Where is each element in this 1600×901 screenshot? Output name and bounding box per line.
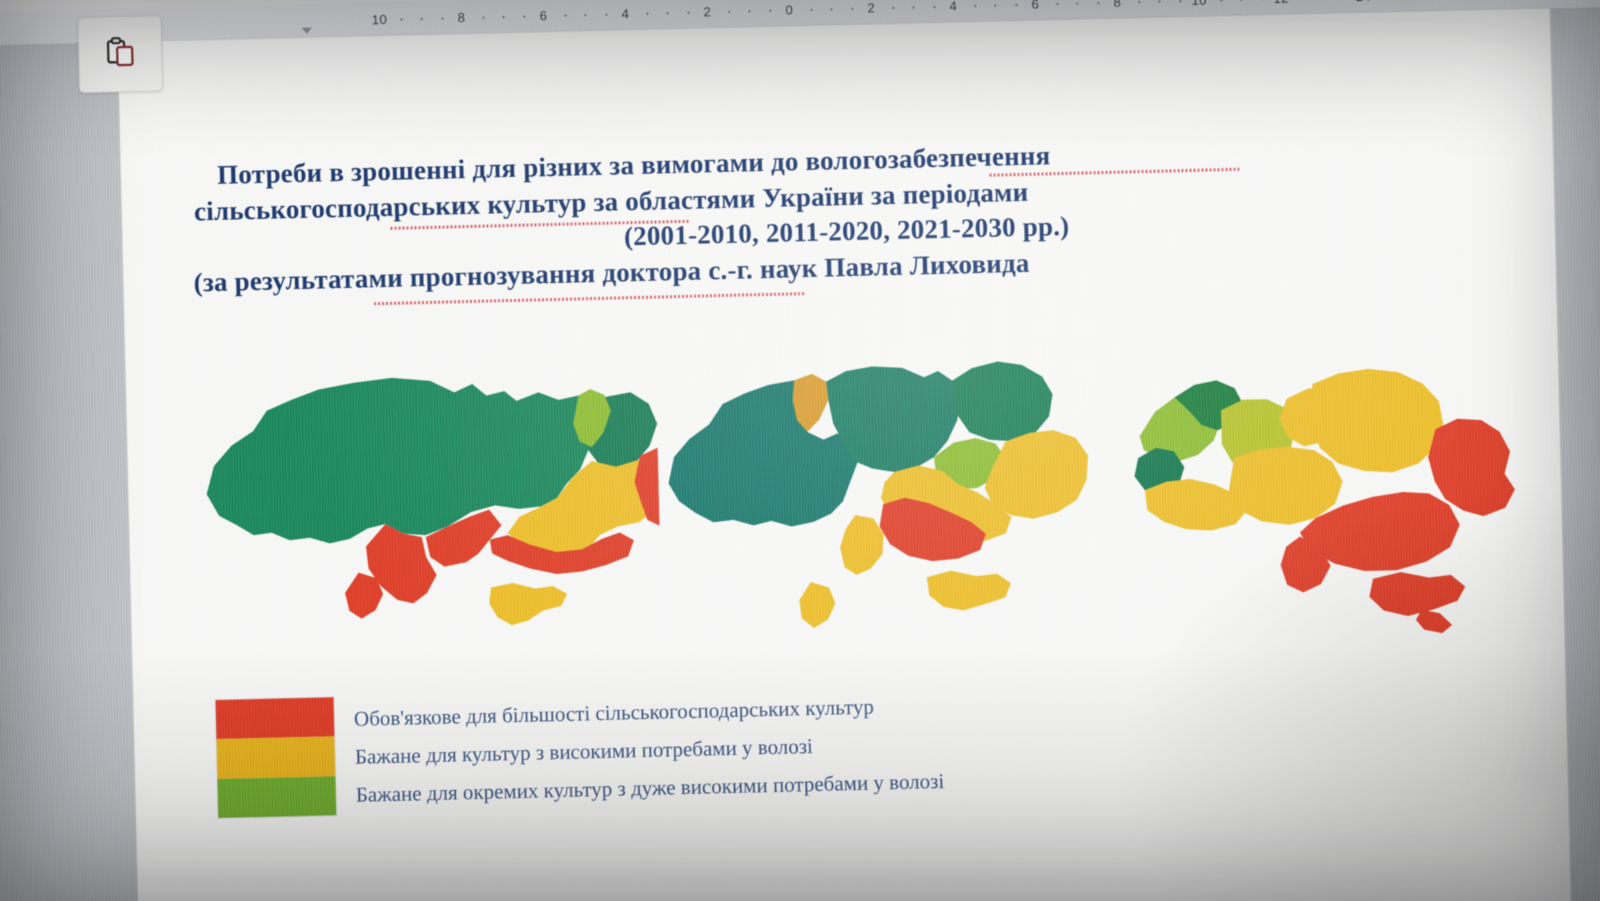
ruler-minor-tick [933,6,935,8]
ruler-minor-tick [1220,0,1222,1]
legend-item-yellow: Бажане для культур з високими потребами … [355,731,944,770]
map-svg-1 [185,336,662,667]
legend-swatch-green [217,776,336,818]
ruler-tick-0: 10 [372,12,388,27]
ruler-minor-tick [1179,0,1181,2]
legend-color-swatch [216,697,337,818]
ruler-minor-tick [400,18,402,20]
page-title: Потреби в зрошенні для різних за вимогам… [189,128,1504,301]
ruler-tick-8: 6 [1031,0,1039,12]
ruler-tick-9: 8 [1113,0,1121,10]
ruler-minor-tick [851,8,853,10]
monitor-photo: Голос Надбудови 1086420246810121416 Потр… [0,0,1600,901]
ruler-minor-tick [1015,4,1017,6]
ruler-minor-tick [830,8,832,10]
ruler-minor-tick [1240,0,1242,1]
legend-swatch-yellow [216,737,335,779]
ruler-minor-tick [605,14,607,16]
region-teal-ne [952,360,1054,442]
ruler-minor-tick [1138,1,1140,3]
ruler-minor-tick [1097,2,1099,4]
ruler-minor-tick [974,5,976,7]
ruler-tick-1: 8 [457,10,465,25]
document-page[interactable]: Потреби в зрошенні для різних за вимогам… [118,8,1572,901]
ruler-tick-4: 2 [703,4,711,19]
ruler-minor-tick [892,7,894,9]
ruler-minor-tick [646,13,648,15]
ruler-tick-11: 12 [1273,0,1289,6]
ruler-minor-tick [482,17,484,19]
ruler-tick-3: 4 [621,6,629,21]
clipboard-paste-icon [103,34,138,74]
region-yellow-east-2 [983,429,1089,519]
ruler-minor-tick [748,10,750,12]
ruler-tick-2: 6 [539,8,547,23]
legend-swatch-red [216,697,335,739]
ruler-tick-7: 4 [949,0,957,14]
legend-item-red: Обов'язкове для більшості сільськогоспод… [354,693,943,732]
map-svg-3 [1115,331,1522,640]
map-ukraine-2011-2020 [655,333,1092,653]
ruler-minor-tick [1056,3,1058,5]
ruler-minor-tick [441,18,443,20]
ruler-tick-5: 0 [785,2,793,17]
ruler-minor-tick [810,9,812,11]
ruler-tick-13: 16 [1437,0,1453,2]
ruler-indent-marker[interactable] [302,28,312,34]
map-ukraine-2021-2030 [1115,331,1522,640]
legend-text-group: Обов'язкове для більшості сільськогоспод… [353,683,944,808]
ruler-minor-tick [523,16,525,18]
map-svg-2 [655,333,1092,653]
ruler-tick-6: 2 [867,0,875,15]
map-panel-row [185,309,1522,670]
screen-surface: Голос Надбудови 1086420246810121416 Потр… [0,0,1600,901]
ruler-minor-tick [912,6,914,8]
legend: Обов'язкове для більшості сільськогоспод… [216,672,1418,818]
paste-options-button[interactable] [77,15,163,93]
region-crimea-yellow [489,582,568,626]
ruler-tick-12: 14 [1355,0,1371,4]
ruler-minor-tick [666,12,668,14]
region-yellow-south-tail [839,514,884,575]
ruler-minor-tick [421,18,423,20]
ruler-minor-tick [994,4,996,6]
ruler-minor-tick [687,12,689,14]
region-crimea-red-3 [1369,571,1466,617]
legend-item-green: Бажане для окремих культур з дуже високи… [356,769,945,808]
ruler-minor-tick [584,14,586,16]
region-crimea-tip-3 [1416,609,1453,634]
ruler-tick-10: 10 [1191,0,1207,8]
ruler-minor-tick [564,15,566,17]
ruler-minor-tick [728,11,730,13]
region-crimea-tip-2 [799,581,836,628]
region-crimea-yellow-2 [927,569,1012,611]
ruler-minor-tick [769,10,771,12]
map-ukraine-2001-2010 [185,336,662,667]
ruler-minor-tick [1076,3,1078,5]
ruler-minor-tick [1158,1,1160,3]
ruler-minor-tick [502,16,504,18]
